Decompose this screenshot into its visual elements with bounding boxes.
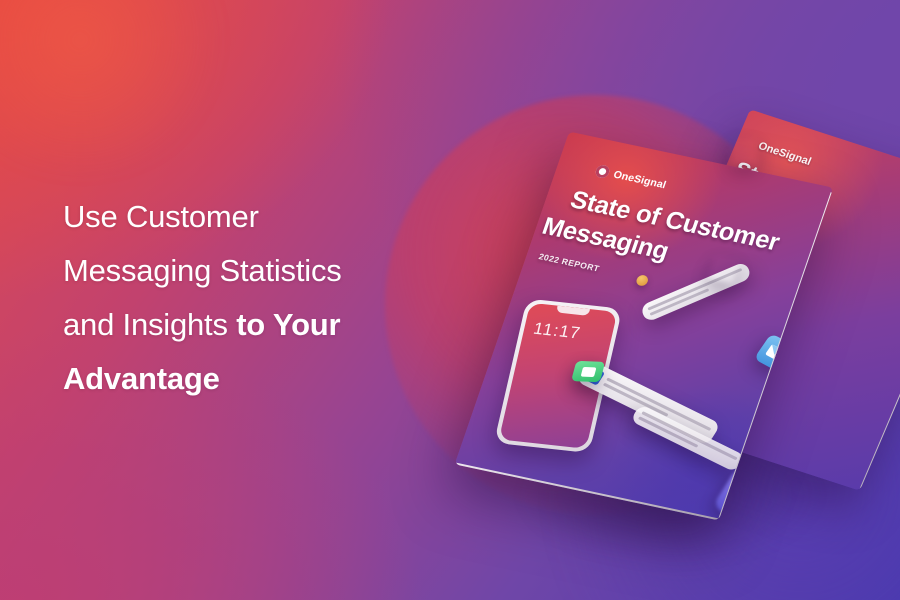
onesignal-logo-mark-icon [594,164,611,179]
phone-notch [556,306,590,316]
message-bubble-icon [571,361,605,382]
phone-clock-time: 11:17 [531,319,582,343]
bell-icon [730,138,758,166]
headline-line-2: Messaging Statistics [63,244,433,298]
headline-line-3: and Insights to Your [63,298,433,352]
headline-line-3-regular: and Insights [63,307,236,342]
marketing-banner: Use Customer Messaging Statistics and In… [0,0,900,600]
headline-line-4: Advantage [63,352,433,406]
decorative-glow-warm [0,0,230,170]
banner-headline: Use Customer Messaging Statistics and In… [63,190,433,406]
message-bubble-glyph [580,366,596,376]
headline-line-3-bold: to Your [236,307,340,342]
headline-line-1: Use Customer [63,190,433,244]
report-books-illustration: OneSignal St ustomer OneSignal State of … [400,70,900,550]
